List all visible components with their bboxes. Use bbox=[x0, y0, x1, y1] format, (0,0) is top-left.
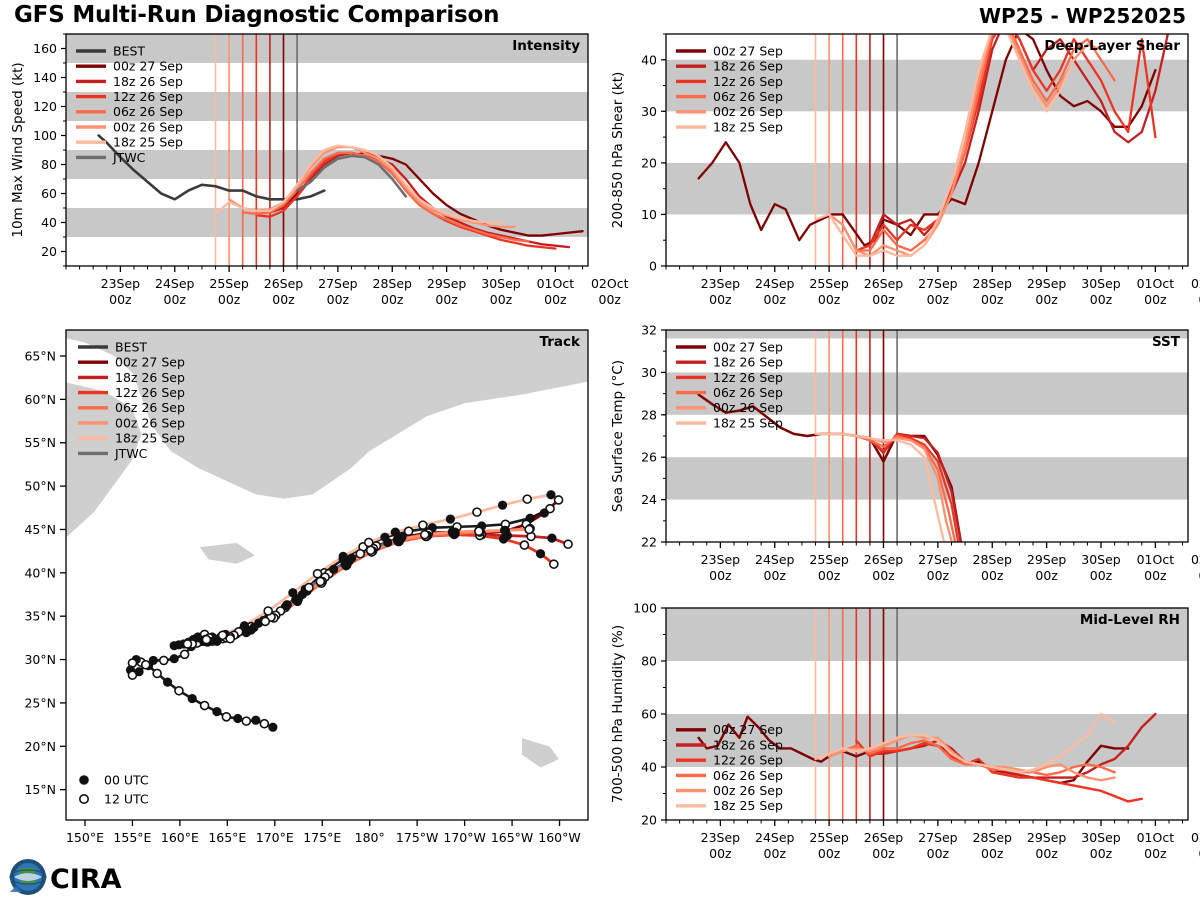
rh-xtick-label-date: 29Sep bbox=[1027, 830, 1067, 845]
rh-legend-label: 18z 26 Sep bbox=[713, 737, 783, 752]
track-ytick-label: 50°N bbox=[24, 479, 56, 494]
rh-xtick-label-hour: 00z bbox=[709, 846, 732, 861]
rh-xtick-label-date: 02Oct bbox=[1191, 830, 1200, 845]
intensity-legend-label: 18z 26 Sep bbox=[113, 74, 183, 89]
intensity-ytick-label: 20 bbox=[41, 244, 57, 259]
sst-xtick-label-hour: 00z bbox=[764, 568, 787, 583]
sst-xtick-label-date: 02Oct bbox=[1191, 552, 1200, 567]
intensity-ytick-label: 100 bbox=[33, 128, 57, 143]
rh-ylabel: 700-500 hPa Humidity (%) bbox=[610, 625, 626, 803]
intensity-legend-label: JTWC bbox=[112, 150, 146, 165]
track-legend-label: 06z 26 Sep bbox=[115, 400, 185, 415]
track-marker-00utc bbox=[242, 628, 250, 636]
track-marker-00utc bbox=[170, 641, 178, 649]
sst-shaded-band-0 bbox=[666, 457, 1188, 499]
rh-ytick-label: 80 bbox=[641, 654, 657, 669]
track-xtick-label: 165°E bbox=[208, 830, 246, 845]
sst-legend-label: 00z 26 Sep bbox=[713, 400, 783, 415]
shear-xtick-label-date: 30Sep bbox=[1081, 276, 1121, 291]
track-marker-00utc bbox=[135, 667, 143, 675]
track-marker-12utc bbox=[260, 720, 268, 728]
shear-xtick-label-hour: 00z bbox=[927, 292, 950, 307]
shear-ytick-label: 30 bbox=[641, 104, 657, 119]
track-marker-00utc bbox=[149, 656, 157, 664]
shear-xtick-label-date: 23Sep bbox=[701, 276, 741, 291]
track-marker-00utc bbox=[384, 538, 392, 546]
track-marker-12utc bbox=[405, 527, 413, 535]
track-marker-legend-label: 00 UTC bbox=[104, 773, 149, 788]
track-marker-12utc bbox=[316, 578, 324, 586]
track-marker-12utc bbox=[160, 656, 168, 664]
rh-xtick-label-hour: 00z bbox=[818, 846, 841, 861]
sst-xtick-label-date: 26Sep bbox=[864, 552, 904, 567]
intensity-xtick-label-date: 23Sep bbox=[101, 276, 141, 291]
intensity-legend-label: 06z 26 Sep bbox=[113, 104, 183, 119]
intensity-xtick-label-date: 01Oct bbox=[537, 276, 575, 291]
intensity-ytick-label: 40 bbox=[41, 215, 57, 230]
intensity-chart: 2040608010012014016023Sep00z24Sep00z25Se… bbox=[0, 26, 600, 322]
intensity-xtick-label-hour: 00z bbox=[490, 292, 513, 307]
track-marker-00utc bbox=[548, 534, 556, 542]
track-marker-12utc bbox=[305, 584, 313, 592]
shear-xtick-label-hour: 00z bbox=[818, 292, 841, 307]
panel-track: 15°N20°N25°N30°N35°N40°N45°N50°N55°N60°N… bbox=[0, 322, 600, 878]
cira-logo-text: CIRA bbox=[50, 864, 122, 895]
track-marker-00utc bbox=[339, 552, 347, 560]
shear-xtick-label-date: 27Sep bbox=[918, 276, 958, 291]
track-panel-label: Track bbox=[540, 334, 581, 350]
intensity-xtick-label-hour: 00z bbox=[272, 292, 295, 307]
track-marker-00utc bbox=[289, 589, 297, 597]
intensity-xtick-label-date: 25Sep bbox=[209, 276, 249, 291]
shear-legend-label: 00z 26 Sep bbox=[713, 104, 783, 119]
track-ytick-label: 30°N bbox=[24, 652, 56, 667]
sst-ytick-label: 28 bbox=[641, 407, 657, 422]
track-marker-legend-filled bbox=[80, 776, 89, 785]
intensity-legend-label: BEST bbox=[113, 43, 145, 58]
rh-panel-label: Mid-Level RH bbox=[1080, 612, 1180, 628]
track-marker-00utc bbox=[500, 526, 508, 534]
track-marker-12utc bbox=[421, 531, 429, 539]
track-ytick-label: 35°N bbox=[24, 609, 56, 624]
rh-xtick-label-hour: 00z bbox=[1144, 846, 1167, 861]
sst-legend-label: 00z 27 Sep bbox=[713, 339, 783, 354]
track-marker-12utc bbox=[367, 546, 375, 554]
track-marker-00utc bbox=[163, 678, 171, 686]
track-marker-12utc bbox=[523, 495, 531, 503]
track-ytick-label: 55°N bbox=[24, 435, 56, 450]
intensity-xtick-label-date: 30Sep bbox=[481, 276, 521, 291]
shear-xtick-label-hour: 00z bbox=[709, 292, 732, 307]
intensity-xtick-label-hour: 00z bbox=[164, 292, 187, 307]
track-ytick-label: 25°N bbox=[24, 695, 56, 710]
track-xtick-label: 160°W bbox=[538, 830, 580, 845]
rh-ytick-label: 20 bbox=[641, 813, 657, 828]
page-title-right: WP25 - WP252025 bbox=[979, 4, 1186, 28]
shear-xtick-label-hour: 00z bbox=[1090, 292, 1113, 307]
intensity-xtick-label-date: 27Sep bbox=[318, 276, 358, 291]
intensity-ytick-label: 160 bbox=[33, 41, 57, 56]
rh-legend-label: 00z 26 Sep bbox=[713, 783, 783, 798]
sst-xtick-label-hour: 00z bbox=[1090, 568, 1113, 583]
shear-ylabel: 200-850 hPa Shear (kt) bbox=[610, 72, 626, 229]
panel-intensity: 2040608010012014016023Sep00z24Sep00z25Se… bbox=[0, 26, 600, 322]
sst-ytick-label: 24 bbox=[641, 492, 657, 507]
track-marker-12utc bbox=[183, 640, 191, 648]
rh-xtick-label-date: 24Sep bbox=[755, 830, 795, 845]
rh-xtick-label-date: 01Oct bbox=[1137, 830, 1175, 845]
sst-xtick-label-date: 25Sep bbox=[809, 552, 849, 567]
intensity-xtick-label-hour: 00z bbox=[218, 292, 241, 307]
track-marker-00utc bbox=[269, 723, 277, 731]
track-marker-12utc bbox=[356, 550, 364, 558]
track-marker-12utc bbox=[550, 560, 558, 568]
rh-xtick-label-hour: 00z bbox=[1035, 846, 1058, 861]
track-marker-00utc bbox=[282, 602, 290, 610]
shear-chart: 01020304023Sep00z24Sep00z25Sep00z26Sep00… bbox=[600, 26, 1200, 322]
sst-legend-label: 06z 26 Sep bbox=[713, 385, 783, 400]
rh-xtick-label-hour: 00z bbox=[764, 846, 787, 861]
intensity-xtick-label-hour: 00z bbox=[544, 292, 567, 307]
shear-xtick-label-date: 28Sep bbox=[973, 276, 1013, 291]
track-legend-label: 00z 27 Sep bbox=[115, 355, 185, 370]
shear-xtick-label-hour: 00z bbox=[1035, 292, 1058, 307]
sst-xtick-label-hour: 00z bbox=[927, 568, 950, 583]
rh-legend-label: 18z 25 Sep bbox=[713, 798, 783, 813]
track-marker-12utc bbox=[222, 713, 230, 721]
shear-legend-label: 18z 26 Sep bbox=[713, 59, 783, 74]
track-marker-12utc bbox=[142, 661, 150, 669]
sst-xtick-label-date: 01Oct bbox=[1137, 552, 1175, 567]
track-chart: 15°N20°N25°N30°N35°N40°N45°N50°N55°N60°N… bbox=[0, 322, 600, 878]
sst-xtick-label-date: 29Sep bbox=[1027, 552, 1067, 567]
track-legend-label: 18z 26 Sep bbox=[115, 370, 185, 385]
track-marker-00utc bbox=[547, 491, 555, 499]
track-marker-12utc bbox=[226, 635, 234, 643]
intensity-legend-label: 00z 26 Sep bbox=[113, 119, 183, 134]
intensity-legend-label: 18z 25 Sep bbox=[113, 135, 183, 150]
rh-ytick-label: 60 bbox=[641, 707, 657, 722]
track-legend-label: 12z 26 Sep bbox=[115, 385, 185, 400]
track-marker-00utc bbox=[194, 634, 202, 642]
shear-legend-label: 00z 27 Sep bbox=[713, 43, 783, 58]
track-ytick-label: 45°N bbox=[24, 522, 56, 537]
intensity-xtick-label-hour: 00z bbox=[109, 292, 132, 307]
sst-xtick-label-date: 24Sep bbox=[755, 552, 795, 567]
intensity-panel-label: Intensity bbox=[512, 38, 580, 54]
sst-legend-label: 18z 25 Sep bbox=[713, 415, 783, 430]
rh-xtick-label-hour: 00z bbox=[1090, 846, 1113, 861]
track-marker-legend-label: 12 UTC bbox=[104, 792, 149, 807]
intensity-ytick-label: 80 bbox=[41, 157, 57, 172]
shear-legend-label: 18z 25 Sep bbox=[713, 119, 783, 134]
track-xtick-label: 170°E bbox=[256, 830, 294, 845]
intensity-xtick-label-hour: 00z bbox=[381, 292, 404, 307]
panel-deep-layer-shear: 01020304023Sep00z24Sep00z25Sep00z26Sep00… bbox=[600, 26, 1200, 322]
shear-xtick-label-hour: 00z bbox=[1144, 292, 1167, 307]
rh-xtick-label-date: 25Sep bbox=[809, 830, 849, 845]
track-marker-00utc bbox=[329, 565, 337, 573]
rh-legend-label: 12z 26 Sep bbox=[713, 753, 783, 768]
sst-legend-label: 12z 26 Sep bbox=[713, 370, 783, 385]
sst-ytick-label: 32 bbox=[641, 323, 657, 338]
intensity-ytick-label: 120 bbox=[33, 99, 57, 114]
track-marker-00utc bbox=[188, 694, 196, 702]
track-marker-12utc bbox=[473, 508, 481, 516]
rh-chart: 2040608010023Sep00z24Sep00z25Sep00z26Sep… bbox=[600, 600, 1200, 878]
rh-xtick-label-date: 30Sep bbox=[1081, 830, 1121, 845]
track-xtick-label: 160°E bbox=[161, 830, 199, 845]
track-marker-12utc bbox=[314, 570, 322, 578]
track-marker-00utc bbox=[448, 528, 456, 536]
rh-xtick-label-date: 23Sep bbox=[701, 830, 741, 845]
track-marker-00utc bbox=[391, 528, 399, 536]
rh-xtick-label-hour: 00z bbox=[927, 846, 950, 861]
sst-ytick-label: 26 bbox=[641, 450, 657, 465]
track-ytick-label: 40°N bbox=[24, 565, 56, 580]
shear-xtick-label-date: 02Oct bbox=[1191, 276, 1200, 291]
shear-panel-label: Deep-Layer Shear bbox=[1044, 38, 1180, 54]
rh-xtick-label-date: 28Sep bbox=[973, 830, 1013, 845]
intensity-ytick-label: 60 bbox=[41, 186, 57, 201]
track-marker-12utc bbox=[564, 540, 572, 548]
page-title-left: GFS Multi-Run Diagnostic Comparison bbox=[14, 2, 499, 28]
intensity-xtick-label-hour: 00z bbox=[435, 292, 458, 307]
track-xtick-label: 165°W bbox=[491, 830, 533, 845]
track-xtick-label: 155°E bbox=[113, 830, 151, 845]
sst-chart: 22242628303223Sep00z24Sep00z25Sep00z26Se… bbox=[600, 322, 1200, 600]
shear-ytick-label: 20 bbox=[641, 155, 657, 170]
intensity-xtick-label-date: 29Sep bbox=[427, 276, 467, 291]
track-marker-12utc bbox=[202, 636, 210, 644]
track-marker-12utc bbox=[419, 521, 427, 529]
sst-xtick-label-date: 27Sep bbox=[918, 552, 958, 567]
intensity-xtick-label-hour: 00z bbox=[327, 292, 350, 307]
track-marker-00utc bbox=[170, 654, 178, 662]
track-legend-label: 18z 25 Sep bbox=[115, 431, 185, 446]
sst-xtick-label-hour: 00z bbox=[1144, 568, 1167, 583]
sst-xtick-label-hour: 00z bbox=[1035, 568, 1058, 583]
track-marker-12utc bbox=[365, 538, 373, 546]
shear-xtick-label-date: 29Sep bbox=[1027, 276, 1067, 291]
sst-shaded-band-2 bbox=[666, 330, 1188, 338]
sst-xtick-label-date: 30Sep bbox=[1081, 552, 1121, 567]
shear-xtick-label-hour: 00z bbox=[764, 292, 787, 307]
sst-ylabel: Sea Surface Temp (°C) bbox=[610, 360, 626, 512]
shear-ytick-label: 40 bbox=[641, 52, 657, 67]
sst-xtick-label-date: 28Sep bbox=[973, 552, 1013, 567]
track-xtick-label: 180° bbox=[355, 830, 385, 845]
shear-shaded-band-0 bbox=[666, 163, 1188, 215]
track-marker-12utc bbox=[520, 541, 528, 549]
track-marker-12utc bbox=[181, 650, 189, 658]
track-xtick-label: 150°E bbox=[66, 830, 104, 845]
shear-legend-label: 06z 26 Sep bbox=[713, 89, 783, 104]
track-xtick-label: 170°W bbox=[443, 830, 485, 845]
track-marker-12utc bbox=[525, 525, 533, 533]
intensity-ytick-label: 140 bbox=[33, 70, 57, 85]
shear-xtick-label-hour: 00z bbox=[981, 292, 1004, 307]
track-marker-12utc bbox=[555, 496, 563, 504]
track-marker-12utc bbox=[264, 607, 272, 615]
shear-ytick-label: 10 bbox=[641, 207, 657, 222]
rh-xtick-label-date: 26Sep bbox=[864, 830, 904, 845]
sst-xtick-label-hour: 00z bbox=[981, 568, 1004, 583]
track-marker-legend-open bbox=[80, 795, 88, 803]
sst-ytick-label: 22 bbox=[641, 535, 657, 550]
rh-xtick-label-hour: 00z bbox=[981, 846, 1004, 861]
track-ytick-label: 60°N bbox=[24, 392, 56, 407]
track-xtick-label: 175°W bbox=[396, 830, 438, 845]
panel-mid-level-rh: 2040608010023Sep00z24Sep00z25Sep00z26Sep… bbox=[600, 600, 1200, 878]
rh-legend-label: 06z 26 Sep bbox=[713, 768, 783, 783]
sst-xtick-label-hour: 00z bbox=[872, 568, 895, 583]
shear-xtick-label-date: 26Sep bbox=[864, 276, 904, 291]
intensity-legend-label: 12z 26 Sep bbox=[113, 89, 183, 104]
track-marker-00utc bbox=[536, 550, 544, 558]
track-ytick-label: 65°N bbox=[24, 349, 56, 364]
sst-xtick-label-date: 23Sep bbox=[701, 552, 741, 567]
track-marker-12utc bbox=[175, 687, 183, 695]
track-marker-00utc bbox=[213, 637, 221, 645]
track-marker-00utc bbox=[341, 560, 349, 568]
shear-xtick-label-date: 24Sep bbox=[755, 276, 795, 291]
track-marker-00utc bbox=[234, 714, 242, 722]
cira-logo: CIRA bbox=[6, 856, 134, 898]
track-legend-label: BEST bbox=[115, 339, 147, 354]
sst-panel-label: SST bbox=[1152, 334, 1181, 350]
intensity-ylabel: 10m Max Wind Speed (kt) bbox=[10, 62, 26, 237]
shear-xtick-label-hour: 00z bbox=[872, 292, 895, 307]
shear-legend-label: 12z 26 Sep bbox=[713, 74, 783, 89]
track-marker-12utc bbox=[475, 527, 483, 535]
track-marker-00utc bbox=[213, 707, 221, 715]
track-xtick-label: 175°E bbox=[303, 830, 341, 845]
track-marker-00utc bbox=[498, 501, 506, 509]
sst-xtick-label-hour: 00z bbox=[709, 568, 732, 583]
sst-xtick-label-hour: 00z bbox=[818, 568, 841, 583]
shear-xtick-label-date: 01Oct bbox=[1137, 276, 1175, 291]
track-ytick-label: 20°N bbox=[24, 739, 56, 754]
rh-ytick-label: 40 bbox=[641, 760, 657, 775]
track-marker-00utc bbox=[252, 716, 260, 724]
rh-ytick-label: 100 bbox=[633, 601, 657, 616]
intensity-xtick-label-date: 28Sep bbox=[373, 276, 413, 291]
rh-legend-label: 00z 27 Sep bbox=[713, 722, 783, 737]
track-marker-12utc bbox=[261, 617, 269, 625]
intensity-legend-label: 00z 27 Sep bbox=[113, 59, 183, 74]
track-marker-00utc bbox=[446, 515, 454, 523]
sst-legend-label: 18z 26 Sep bbox=[713, 355, 783, 370]
shear-xtick-label-date: 25Sep bbox=[809, 276, 849, 291]
track-legend-label: 00z 26 Sep bbox=[115, 415, 185, 430]
panel-sst: 22242628303223Sep00z24Sep00z25Sep00z26Se… bbox=[600, 322, 1200, 600]
rh-xtick-label-hour: 00z bbox=[872, 846, 895, 861]
rh-xtick-label-date: 27Sep bbox=[918, 830, 958, 845]
track-marker-12utc bbox=[242, 717, 250, 725]
track-ytick-label: 15°N bbox=[24, 782, 56, 797]
sst-ytick-label: 30 bbox=[641, 365, 657, 380]
track-marker-00utc bbox=[540, 509, 548, 517]
track-marker-12utc bbox=[201, 702, 209, 710]
track-marker-00utc bbox=[393, 536, 401, 544]
intensity-xtick-label-date: 26Sep bbox=[264, 276, 304, 291]
shear-ytick-label: 0 bbox=[649, 259, 657, 274]
intensity-xtick-label-date: 24Sep bbox=[155, 276, 195, 291]
track-marker-00utc bbox=[499, 535, 507, 543]
track-marker-12utc bbox=[153, 669, 161, 677]
track-legend-label: JTWC bbox=[114, 446, 148, 461]
